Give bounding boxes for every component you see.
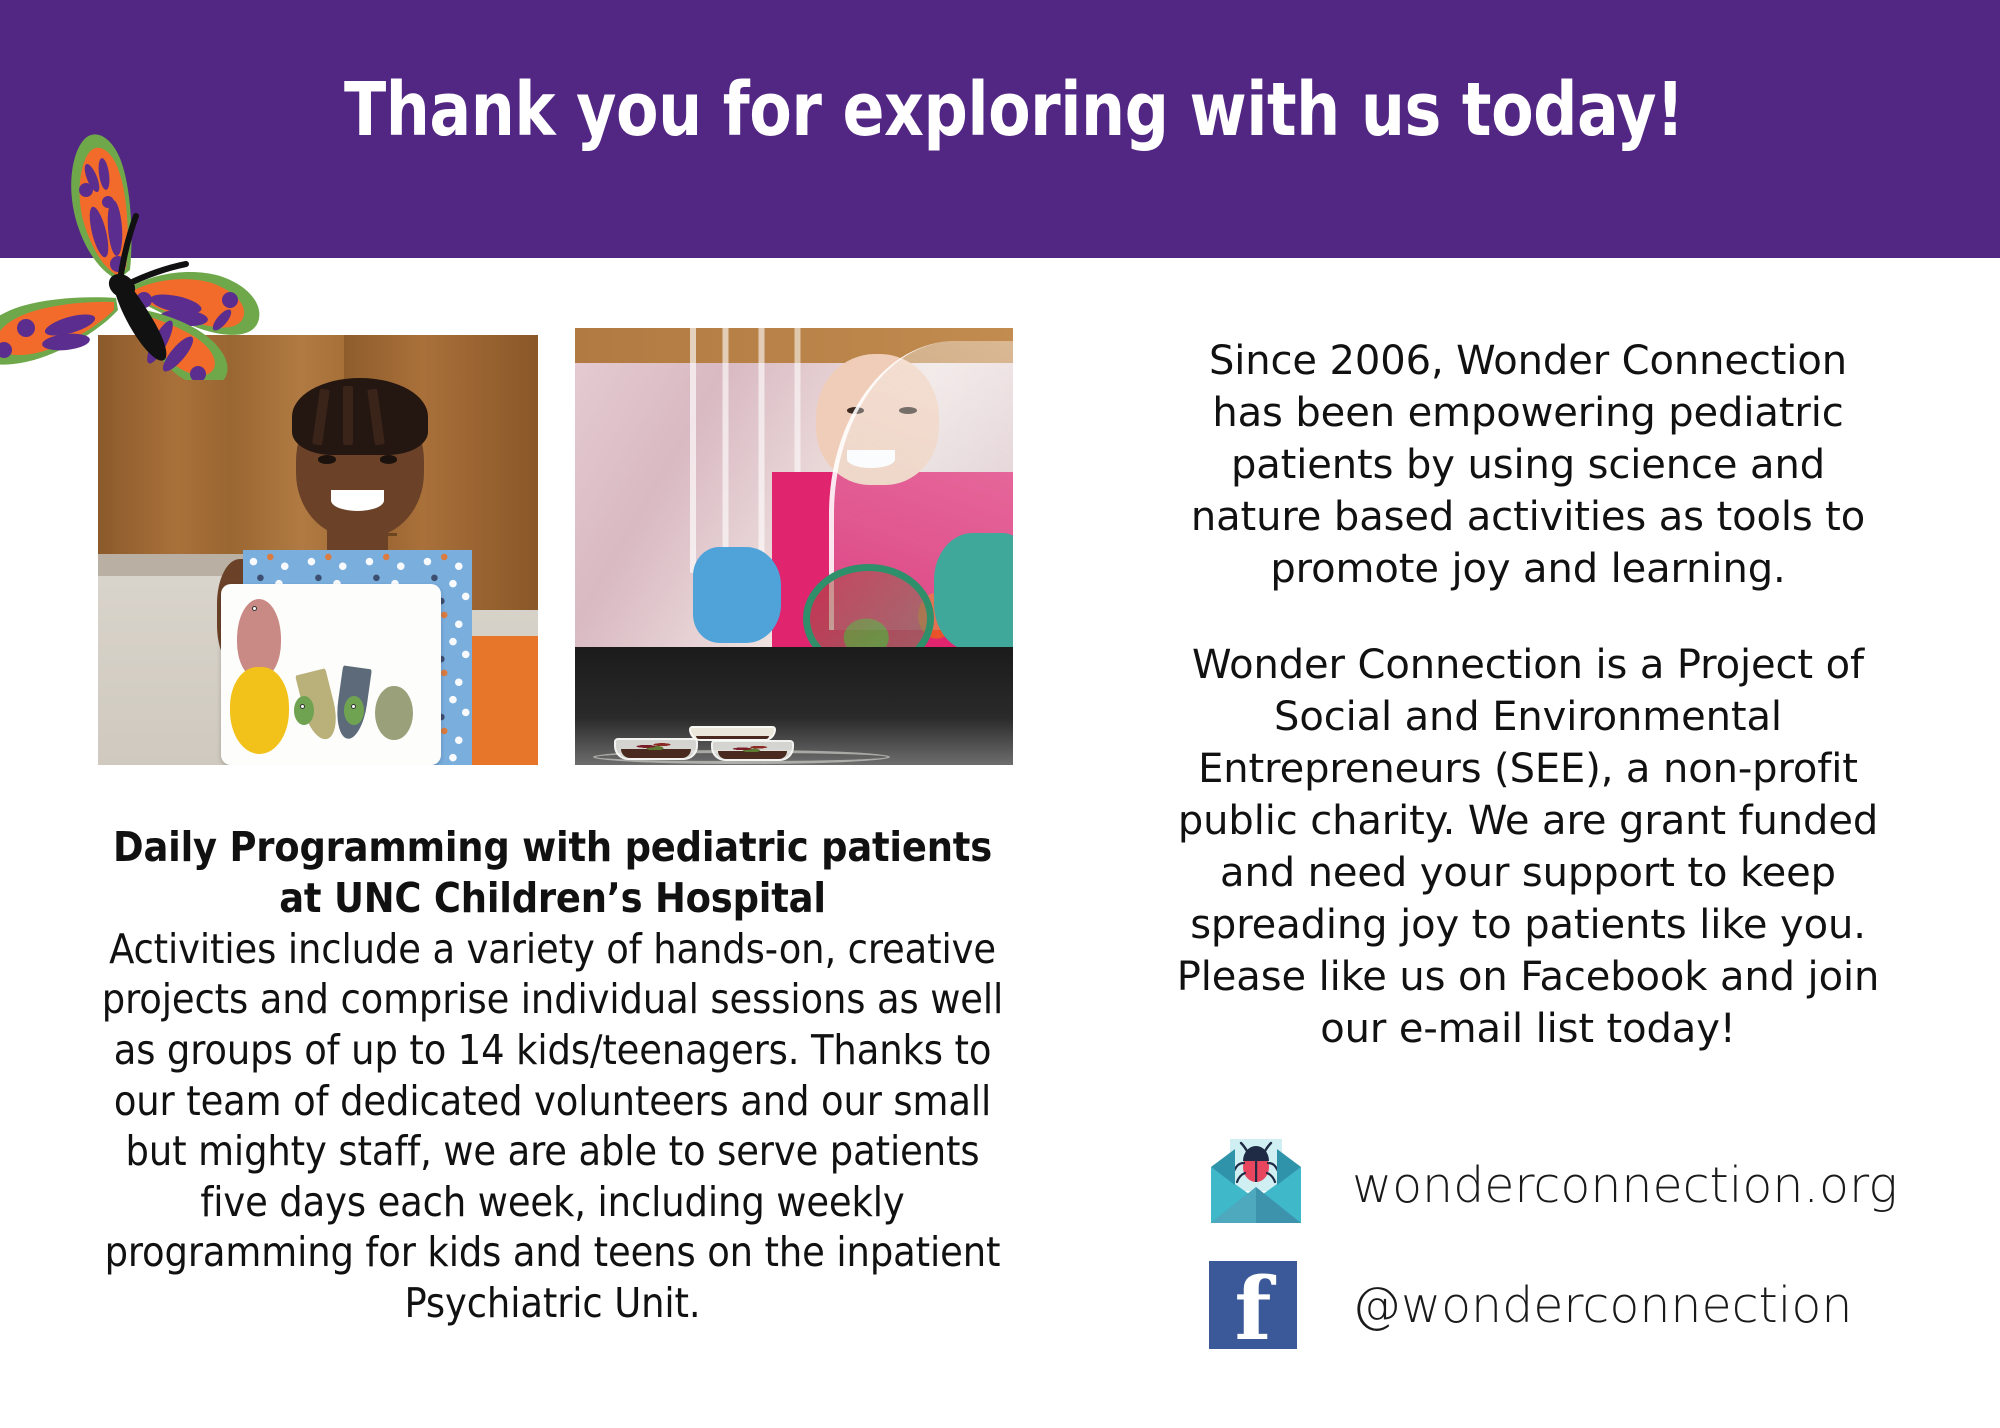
left-text-column: Daily Programming with pediatric patient… <box>90 822 1015 1329</box>
left-column-body: Activities include a variety of hands-on… <box>90 924 1015 1329</box>
open-envelope-with-ladybug-icon <box>1205 1137 1307 1233</box>
support-paragraph: Wonder Connection is a Project of Social… <box>1168 639 1888 1055</box>
website-label[interactable]: wonderconnection.org <box>1352 1157 1898 1214</box>
facebook-glyph: f <box>1209 1261 1297 1349</box>
photo-child-with-petri-dish <box>575 328 1013 765</box>
right-text-column: Since 2006, Wonder Connection has been e… <box>1168 335 1888 1055</box>
page-title: Thank you for exploring with us today! <box>70 72 1930 150</box>
header-band: Thank you for exploring with us today! <box>0 0 2000 258</box>
about-paragraph: Since 2006, Wonder Connection has been e… <box>1168 335 1888 595</box>
facebook-handle-label[interactable]: @wonderconnection <box>1352 1277 1852 1334</box>
contact-row-facebook[interactable]: f @wonderconnection <box>1205 1245 1965 1365</box>
contact-list: wonderconnection.org f @wonderconnection <box>1205 1125 1965 1365</box>
facebook-icon: f <box>1205 1257 1307 1353</box>
left-column-heading: Daily Programming with pediatric patient… <box>90 822 1015 924</box>
butterfly-icon <box>0 120 268 380</box>
contact-row-website[interactable]: wonderconnection.org <box>1205 1125 1965 1245</box>
photo-girl-with-leaf-art <box>98 335 538 765</box>
